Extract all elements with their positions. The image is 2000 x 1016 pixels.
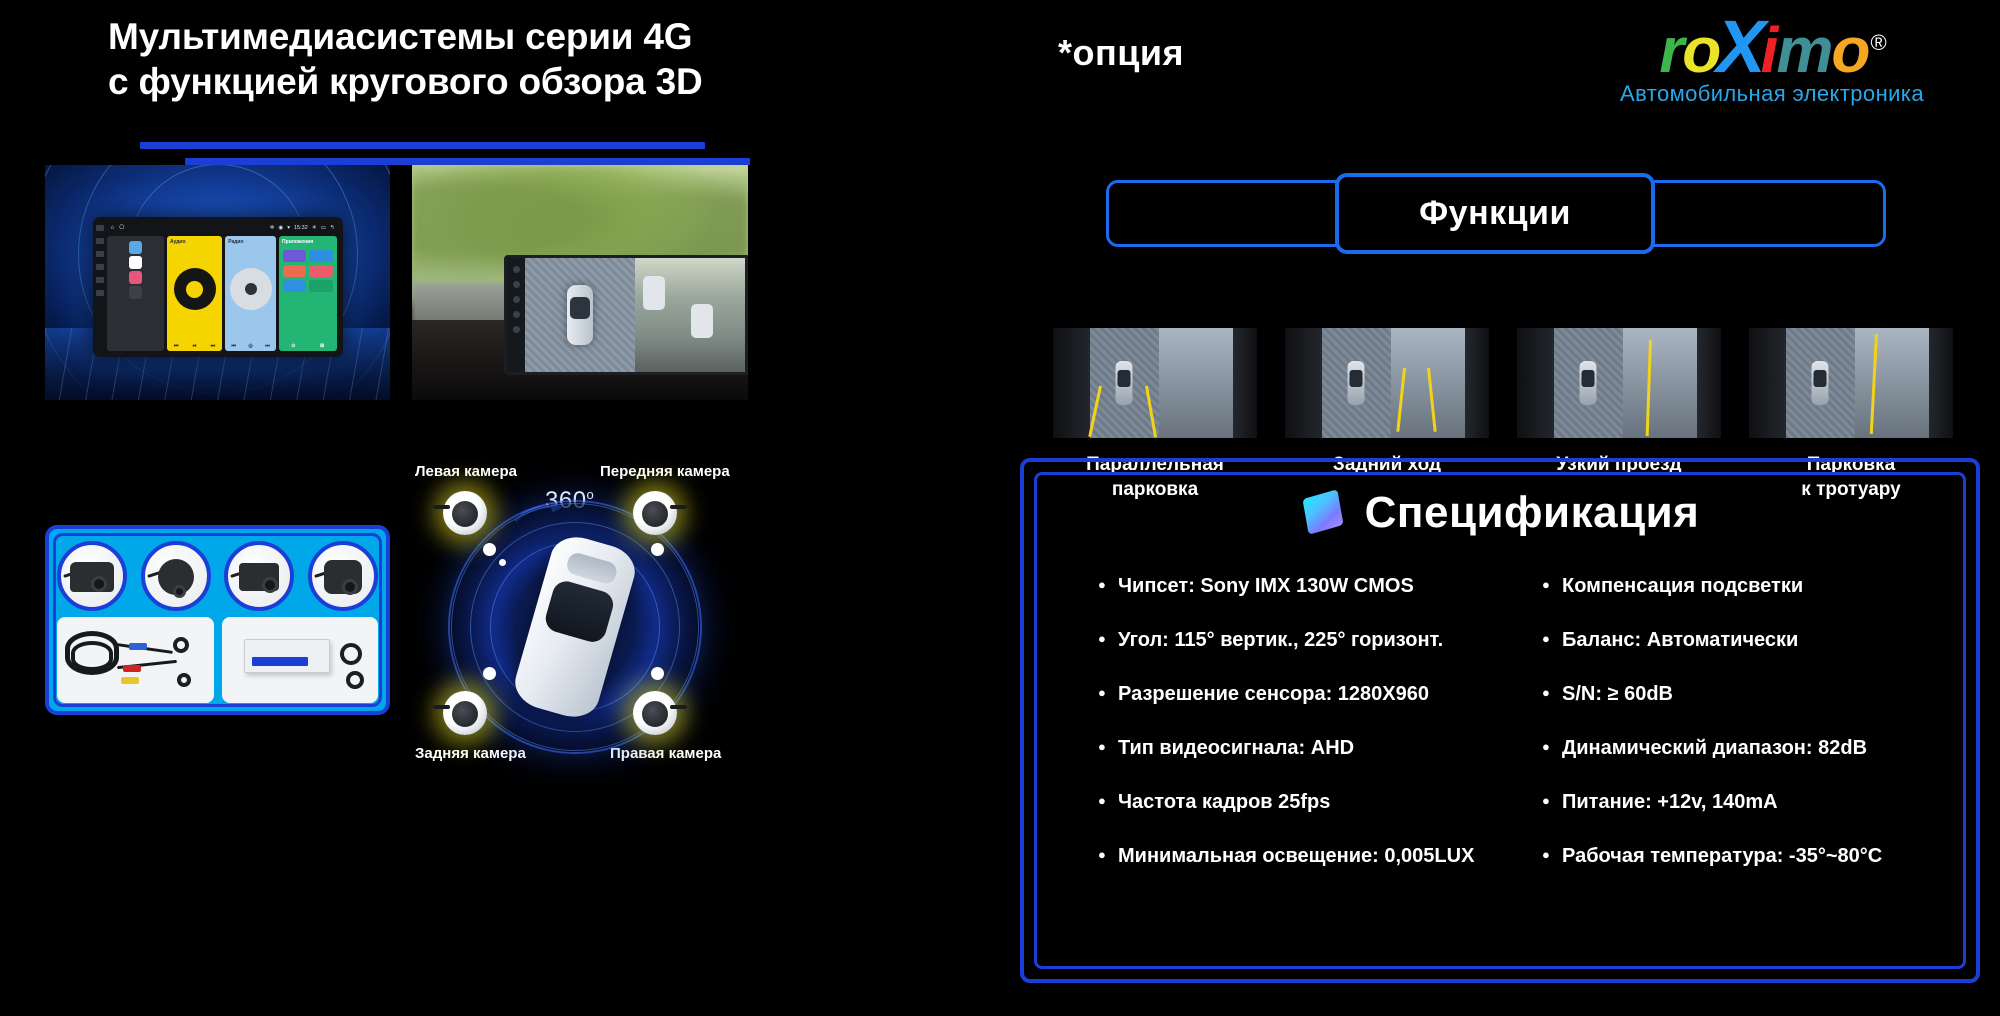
diagram-dot [651, 543, 664, 556]
rca-connector-red [123, 665, 141, 672]
logo-letter-o2: o [1831, 15, 1868, 85]
screenshot-live-view [1159, 328, 1232, 438]
diagram-dot [483, 543, 496, 556]
screenshot-left-bezel [1053, 328, 1090, 438]
music-icon [283, 265, 306, 277]
spec-item: Питание: +12v, 140mA [1542, 790, 1976, 814]
rear-camera-pane [635, 258, 745, 372]
camera-lens-icon [91, 576, 107, 592]
specification-panel: Спецификация Чипсет: Sony IMX 130W CMOS … [1020, 458, 1980, 983]
function-screenshot [1285, 328, 1489, 438]
prev-icon: ⏮ [231, 343, 236, 349]
control-box-label [252, 657, 308, 666]
function-screenshot [1749, 328, 1953, 438]
dashboard-360-photo [412, 165, 748, 400]
diagram-dot [651, 667, 664, 680]
spec-item: Минимальная освещение: 0,005LUX [1098, 844, 1500, 868]
status-left-icons: ⌂ ⎔ [111, 224, 125, 231]
next-icon: ⏭ [211, 343, 216, 349]
logo-letter-x: X [1716, 12, 1763, 82]
band-icon: ◎ [248, 343, 252, 349]
rca-connector-blue [129, 643, 147, 650]
control-box [244, 639, 330, 673]
status-right-icons: ✲ ◉ ▾ 15:32 ☀ ▭ ↰ [270, 225, 335, 231]
spec-item: Угол: 115° вертик., 225° горизонт. [1098, 628, 1500, 652]
head-unit-hero-image: ⌂ ⎔ ✲ ◉ ▾ 15:32 ☀ ▭ ↰ [45, 165, 390, 400]
display-side-rail [507, 258, 525, 372]
logo-letter-m: m [1776, 15, 1831, 85]
camera-node-front [633, 491, 677, 535]
registered-trademark-icon: ® [1870, 8, 1884, 78]
settings-round-icon: ⊙ [291, 343, 295, 349]
specification-heading: Спецификация [1365, 488, 1700, 538]
control-box-photo [222, 617, 379, 703]
screenshot-birdseye [1786, 328, 1855, 438]
camera-cable [433, 505, 450, 509]
spec-item: Разрешение сенсора: 1280X960 [1098, 682, 1500, 706]
spec-item: Тип видеосигнала: AHD [1098, 736, 1500, 760]
birdseye-view-pane [525, 258, 635, 372]
spec-item: Компенсация подсветки [1542, 574, 1976, 598]
small-camera [173, 637, 189, 653]
camera-node-left [443, 491, 487, 535]
prev-icon: ⏮ [174, 343, 179, 349]
recents-icon: ▭ [321, 225, 326, 231]
camera-node-rear [443, 691, 487, 735]
camera-cable [670, 705, 687, 709]
title-underline-bottom [185, 158, 750, 165]
specification-left-column: Чипсет: Sony IMX 130W CMOS Угол: 115° ве… [1024, 574, 1500, 898]
card-apps: Приложения ⊙ ⊞ [279, 236, 336, 351]
diagram-dot [499, 559, 506, 566]
screenshot-left-bezel [1517, 328, 1554, 438]
video-icon [283, 250, 306, 262]
logo-letter-r: r [1659, 15, 1682, 85]
diagram-dot [483, 667, 496, 680]
audio-disc-icon [174, 268, 216, 310]
home-icon: ⌂ [111, 225, 115, 231]
play-icon: ⏯ [193, 343, 197, 349]
logo-letter-o1: o [1682, 15, 1719, 85]
grid-round-icon: ⊞ [320, 343, 324, 349]
camera-variant-bracket [224, 541, 294, 611]
screenshot-birdseye [1090, 328, 1159, 438]
title-line-2: с функцией кругового обзора 3D [108, 59, 898, 104]
functions-tab[interactable]: Функции [1335, 173, 1655, 254]
camera-lens-icon [342, 579, 358, 595]
mic-icon: ⎔ [119, 224, 124, 231]
in-car-display [504, 255, 748, 375]
spec-item: Динамический диапазон: 82dB [1542, 736, 1976, 760]
equalizer-icon [283, 280, 306, 292]
rubber-grommet [346, 671, 364, 689]
screenshot-right-bezel [1697, 328, 1721, 438]
head-unit-home-cards: Аудио ⏮ ⏯ ⏭ Радио ⏮ ◎ ⏭ [107, 234, 339, 353]
specification-columns: Чипсет: Sony IMX 130W CMOS Угол: 115° ве… [1024, 574, 1976, 898]
function-screenshot [1053, 328, 1257, 438]
card-audio-label: Аудио [170, 239, 186, 245]
camera-variant-wedge [57, 541, 127, 611]
specification-header: Спецификация [1024, 488, 1976, 538]
camera-placement-diagram: Левая камера Передняя камера Задняя каме… [395, 455, 755, 785]
label-right-camera: Правая камера [610, 745, 721, 762]
title-underline-group [110, 142, 830, 165]
next-icon: ⏭ [265, 343, 270, 349]
option-note: *опция [1058, 32, 1184, 74]
title-underline-top [140, 142, 705, 149]
add-icon [309, 280, 332, 292]
play-store-icon [129, 256, 142, 269]
functions-tab-label: Функции [1419, 194, 1571, 233]
spec-item: Баланс: Автоматически [1542, 628, 1976, 652]
small-camera [177, 673, 191, 687]
settings-icon [129, 241, 142, 254]
screenshot-right-bezel [1465, 328, 1489, 438]
car-icon [1116, 361, 1133, 405]
gps-icon: ◉ [278, 225, 283, 231]
head-unit-device: ⌂ ⎔ ✲ ◉ ▾ 15:32 ☀ ▭ ↰ [93, 217, 343, 357]
screenshot-right-bezel [1233, 328, 1257, 438]
car-icon [1348, 361, 1365, 405]
rubber-grommet [340, 643, 362, 665]
bluetooth-icon: ✲ [270, 225, 275, 231]
parked-car [691, 304, 713, 338]
screenshot-left-bezel [1749, 328, 1786, 438]
apps-tile-grid [283, 250, 332, 292]
bluetooth-app-icon [309, 250, 332, 262]
wifi-icon: ▾ [287, 225, 290, 231]
car-icon [1580, 361, 1597, 405]
back-icon: ↰ [330, 225, 335, 231]
kit-accessories-row [57, 617, 378, 703]
label-left-camera: Левая камера [415, 463, 517, 480]
audio-transport-controls: ⏮ ⏯ ⏭ [167, 343, 222, 349]
specification-right-column: Компенсация подсветки Баланс: Автоматиче… [1500, 574, 1976, 898]
logo-tagline: Автомобильная электроника [1572, 81, 1972, 107]
screenshot-birdseye [1554, 328, 1623, 438]
head-unit-status-bar: ⌂ ⎔ ✲ ◉ ▾ 15:32 ☀ ▭ ↰ [107, 221, 339, 234]
theme-icon [309, 265, 332, 277]
camera-node-right [633, 691, 677, 735]
degree-symbol-icon: o [587, 487, 595, 502]
birdseye-car-icon [567, 285, 593, 345]
label-rear-camera: Задняя камера [415, 745, 526, 762]
head-unit-side-buttons [95, 225, 106, 296]
screenshot-left-bezel [1285, 328, 1322, 438]
screenshot-birdseye [1322, 328, 1391, 438]
display-panes [525, 258, 745, 372]
spec-item: Рабочая температура: -35°~80°C [1542, 844, 1976, 868]
cube-icon [1301, 490, 1347, 536]
camera-lens-icon [173, 585, 186, 598]
page-title: Мультимедиасистемы серии 4G с функцией к… [108, 14, 898, 104]
card-radio-label: Радио [228, 239, 243, 245]
card-audio: Аудио ⏮ ⏯ ⏭ [167, 236, 222, 351]
spec-item: S/N: ≥ 60dB [1542, 682, 1976, 706]
camera-cable [433, 705, 450, 709]
spec-item: Частота кадров 25fps [1098, 790, 1500, 814]
label-front-camera: Передняя камера [600, 463, 730, 480]
card-apps-label: Приложения [282, 239, 313, 245]
camera-variant-dome [308, 541, 378, 611]
screenshot-live-view [1855, 328, 1928, 438]
apps-bottom-controls: ⊙ ⊞ [279, 343, 336, 349]
status-clock: 15:32 [294, 225, 308, 231]
poster-root: Мультимедиасистемы серии 4G с функцией к… [0, 0, 2000, 1016]
card-radio: Радио ⏮ ◎ ⏭ [225, 236, 276, 351]
screenshot-live-view [1623, 328, 1696, 438]
camera-variants-row [57, 537, 378, 615]
radio-disc-icon [230, 268, 272, 310]
spec-item: Чипсет: Sony IMX 130W CMOS [1098, 574, 1500, 598]
card-quick-apps [107, 236, 164, 351]
roximo-logo: roXimo® Автомобильная электроника [1572, 8, 1972, 107]
parked-car [643, 276, 665, 310]
brightness-icon: ☀ [312, 225, 317, 231]
radio-transport-controls: ⏮ ◎ ⏭ [225, 343, 276, 349]
title-line-1: Мультимедиасистемы серии 4G [108, 14, 898, 59]
screenshot-right-bezel [1929, 328, 1953, 438]
wiring-harness-photo [57, 617, 214, 703]
function-screenshot [1517, 328, 1721, 438]
logo-letter-i: i [1761, 15, 1777, 85]
car-icon [1812, 361, 1829, 405]
rca-connector-yellow [121, 677, 139, 684]
camera-cable [670, 505, 687, 509]
camera-kit-panel [45, 525, 390, 715]
cable-coil-inner [71, 641, 113, 671]
navigation-icon [129, 286, 142, 299]
mail-icon [129, 271, 142, 284]
camera-variant-ball [141, 541, 211, 611]
logo-wordmark: roXimo® [1572, 8, 1972, 85]
